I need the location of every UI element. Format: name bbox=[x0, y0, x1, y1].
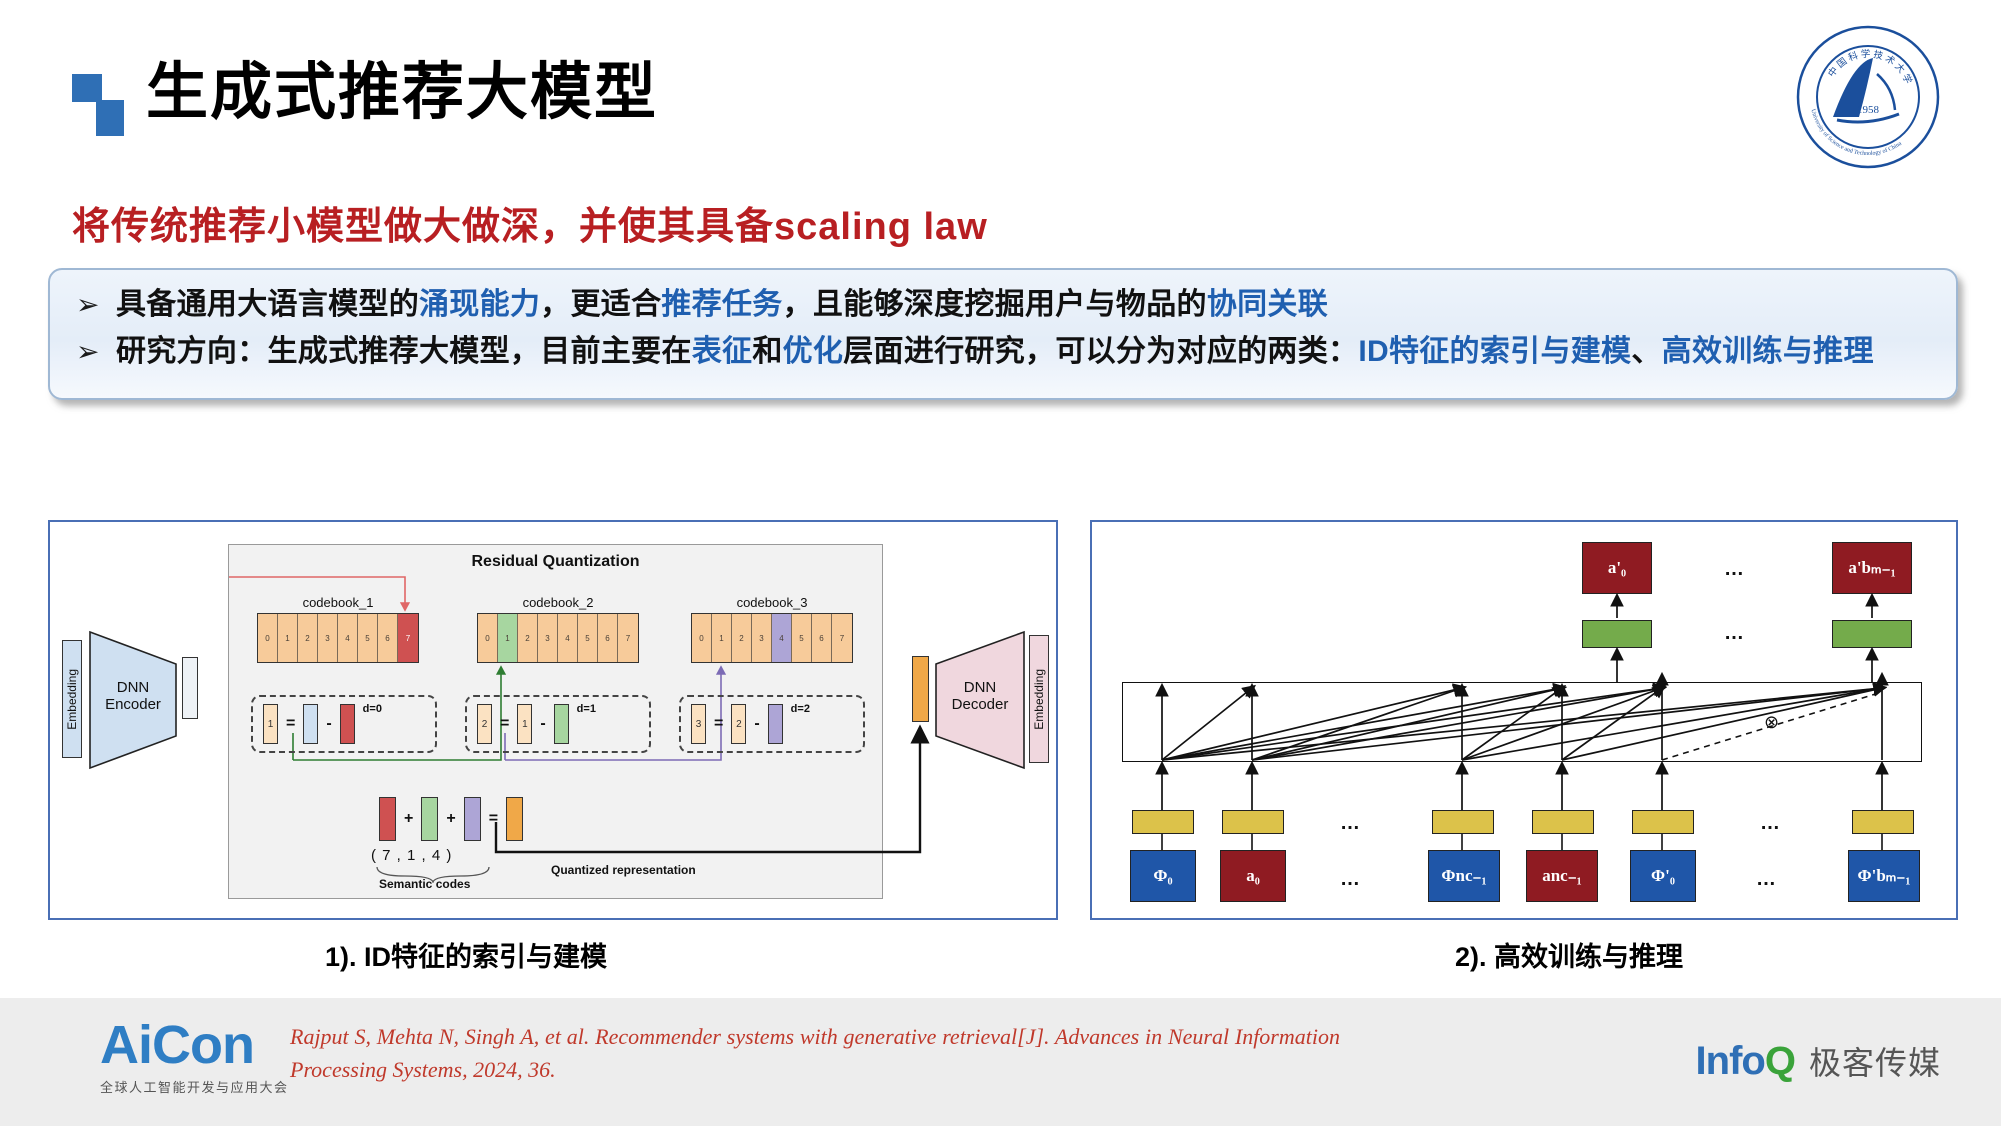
input-ellipsis-2: … bbox=[1756, 868, 1776, 891]
page-title: 生成式推荐大模型 bbox=[146, 60, 658, 125]
figure-panel-efficient-training: a'₀ a'bₘ₋₁ … … bbox=[1090, 520, 1958, 920]
bullet-text-1: 具备通用大语言模型的涌现能力，更适合推荐任务，且能够深度挖掘用户与物品的协同关联 bbox=[116, 284, 1328, 325]
svg-text:1958: 1958 bbox=[1857, 104, 1880, 116]
slide-subtitle: 将传统推荐小模型做大做深，并使其具备scaling law bbox=[72, 195, 988, 250]
input-node-a-nc-1: anc₋₁ bbox=[1526, 850, 1598, 902]
figure-panel-residual-quantization: Embedding DNN Encoder DNN Decoder Embedd… bbox=[48, 520, 1058, 920]
bullet-arrow-icon: ➢ bbox=[76, 331, 116, 371]
infoq-logo: Info Q 极客传媒 bbox=[1696, 1038, 1941, 1084]
title-marker-icon bbox=[72, 74, 124, 136]
slide-header: 生成式推荐大模型 bbox=[72, 60, 658, 136]
university-crest-logo: 1958 中 国 科 学 技 术 大 学 University of Scien… bbox=[1793, 22, 1943, 172]
figure-caption-left: 1). ID特征的索引与建模 bbox=[325, 935, 607, 974]
aicon-tagline: 全球人工智能开发与应用大会 bbox=[100, 1077, 289, 1096]
quantized-path-connector bbox=[50, 522, 1060, 922]
bullet-arrow-icon: ➢ bbox=[76, 284, 116, 324]
input-ellipsis: … bbox=[1340, 868, 1360, 891]
bullet-item: ➢ 具备通用大语言模型的涌现能力，更适合推荐任务，且能够深度挖掘用户与物品的协同… bbox=[76, 284, 1930, 325]
slide-footer: AiCon 全球人工智能开发与应用大会 Rajput S, Mehta N, S… bbox=[0, 998, 2001, 1126]
aicon-logo: AiCon 全球人工智能开发与应用大会 bbox=[100, 1018, 289, 1096]
bullet-text-2: 研究方向：生成式推荐大模型，目前主要在表征和优化层面进行研究，可以分为对应的两类… bbox=[116, 331, 1874, 372]
infoq-chinese-name: 极客传媒 bbox=[1809, 1038, 1941, 1084]
bullet-item: ➢ 研究方向：生成式推荐大模型，目前主要在表征和优化层面进行研究，可以分为对应的… bbox=[76, 331, 1930, 372]
infoq-info-text: Info bbox=[1696, 1039, 1765, 1084]
input-node-phi-prime-bm-1: Φ'bₘ₋₁ bbox=[1848, 850, 1920, 902]
key-points-callout: ➢ 具备通用大语言模型的涌现能力，更适合推荐任务，且能够深度挖掘用户与物品的协同… bbox=[48, 268, 1958, 400]
infoq-q-text: Q bbox=[1765, 1039, 1795, 1084]
input-node-phi-nc-1: Φnc₋₁ bbox=[1428, 850, 1500, 902]
aicon-wordmark: AiCon bbox=[100, 1018, 289, 1072]
input-node-a-0: a₀ bbox=[1220, 850, 1286, 902]
citation-reference: Rajput S, Mehta N, Singh A, et al. Recom… bbox=[290, 1020, 1340, 1086]
input-node-phi-0: Φ₀ bbox=[1130, 850, 1196, 902]
input-node-phi-prime-0: Φ'₀ bbox=[1630, 850, 1696, 902]
figure-caption-right: 2). 高效训练与推理 bbox=[1455, 935, 1683, 974]
